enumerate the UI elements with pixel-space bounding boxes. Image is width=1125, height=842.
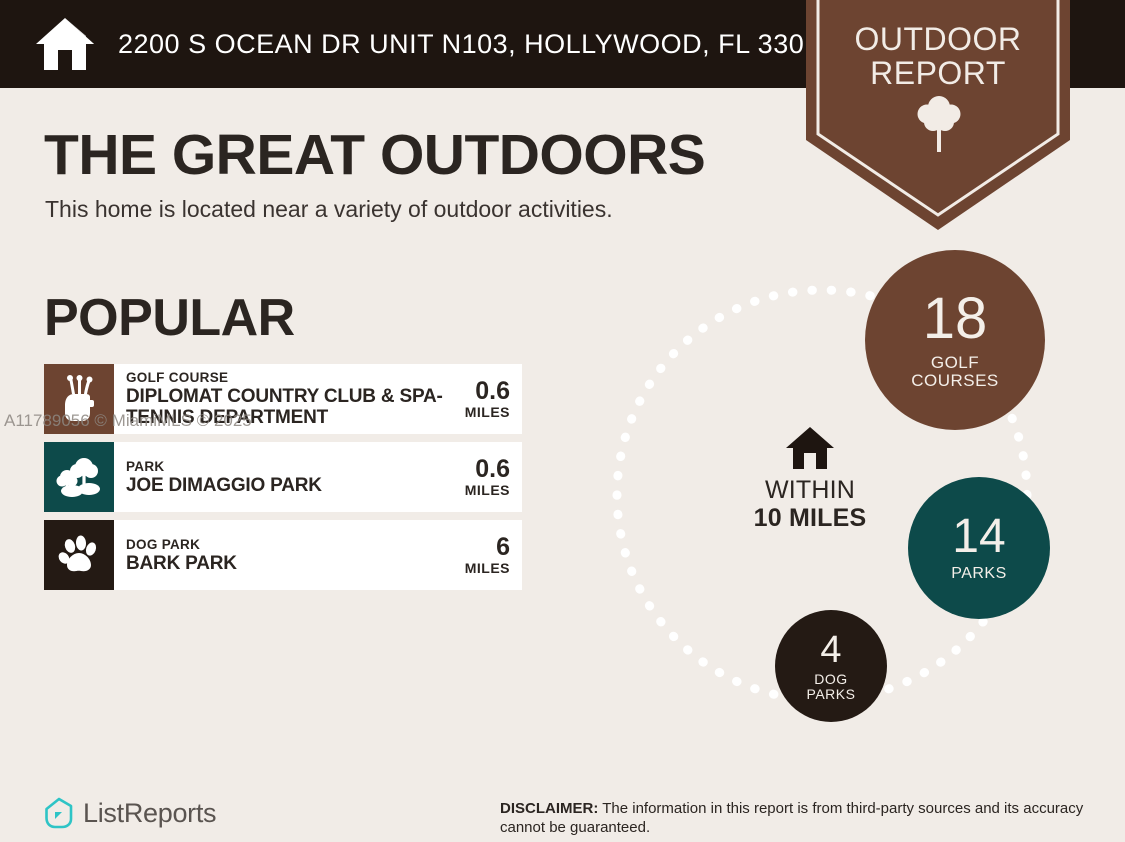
poi-distance: 0.6 MILES: [465, 379, 522, 420]
poi-distance: 0.6 MILES: [465, 457, 522, 498]
stat-label: DOG PARKS: [807, 672, 856, 701]
poi-category: DOG PARK: [126, 537, 465, 553]
poi-name: DIPLOMAT COUNTRY CLUB & SPA-TENNIS DEPAR…: [126, 386, 465, 428]
outdoor-report-badge: OUTDOOR REPORT: [806, 0, 1070, 230]
poi-category: GOLF COURSE: [126, 370, 465, 386]
stat-circle-dog-parks[interactable]: 4 DOG PARKS: [775, 610, 887, 722]
listreports-logo-text: ListReports: [83, 798, 216, 829]
poi-distance-unit: MILES: [465, 404, 510, 420]
listreports-logo[interactable]: ListReports: [44, 797, 216, 829]
stat-value: 4: [820, 631, 841, 669]
diagram-center-line2: 10 MILES: [730, 504, 890, 532]
golf-bag-icon: [44, 364, 114, 434]
home-icon: [730, 425, 890, 471]
poi-distance-value: 0.6: [465, 379, 510, 404]
poi-distance-value: 6: [465, 535, 510, 560]
stat-label-line2: PARKS: [807, 687, 856, 702]
disclaimer: DISCLAIMER: The information in this repo…: [500, 799, 1090, 837]
poi-distance-value: 0.6: [465, 457, 510, 482]
paw-print-icon: [44, 520, 114, 590]
property-address: 2200 S OCEAN DR UNIT N103, HOLLYWOOD, FL…: [118, 29, 835, 60]
stat-circle-golf-courses[interactable]: 18 GOLF COURSES: [865, 250, 1045, 430]
list-item[interactable]: PARK JOE DIMAGGIO PARK 0.6 MILES: [44, 442, 522, 512]
poi-name: BARK PARK: [126, 553, 465, 574]
stat-value: 14: [952, 513, 1005, 561]
poi-distance: 6 MILES: [465, 535, 522, 576]
stat-label-line1: PARKS: [951, 566, 1007, 583]
park-trees-icon: [44, 442, 114, 512]
poi-name: JOE DIMAGGIO PARK: [126, 475, 465, 496]
diagram-center-node: WITHIN 10 MILES: [730, 425, 890, 532]
stat-label-line1: GOLF: [911, 354, 999, 372]
stat-label: GOLF COURSES: [911, 354, 999, 390]
outdoor-report-page: 2200 S OCEAN DR UNIT N103, HOLLYWOOD, FL…: [0, 0, 1125, 842]
popular-list: GOLF COURSE DIPLOMAT COUNTRY CLUB & SPA-…: [44, 364, 522, 598]
within-10-miles-diagram: WITHIN 10 MILES 18 GOLF COURSES 14 PARKS…: [600, 240, 1070, 740]
page-title: THE GREAT OUTDOORS: [44, 122, 705, 188]
stat-circle-parks[interactable]: 14 PARKS: [908, 477, 1050, 619]
poi-category: PARK: [126, 459, 465, 475]
home-icon: [34, 16, 96, 72]
listreports-pin-icon: [44, 797, 74, 829]
stat-value: 18: [923, 290, 988, 348]
poi-distance-unit: MILES: [465, 560, 510, 576]
popular-section-heading: POPULAR: [44, 288, 295, 348]
list-item[interactable]: GOLF COURSE DIPLOMAT COUNTRY CLUB & SPA-…: [44, 364, 522, 434]
tree-icon: [914, 92, 964, 154]
disclaimer-label: DISCLAIMER:: [500, 800, 598, 817]
diagram-center-line1: WITHIN: [730, 477, 890, 504]
page-subtitle: This home is located near a variety of o…: [45, 196, 613, 223]
list-item[interactable]: DOG PARK BARK PARK 6 MILES: [44, 520, 522, 590]
stat-label-line2: COURSES: [911, 372, 999, 390]
poi-distance-unit: MILES: [465, 482, 510, 498]
stat-label: PARKS: [951, 566, 1007, 583]
stat-label-line1: DOG: [807, 672, 856, 687]
